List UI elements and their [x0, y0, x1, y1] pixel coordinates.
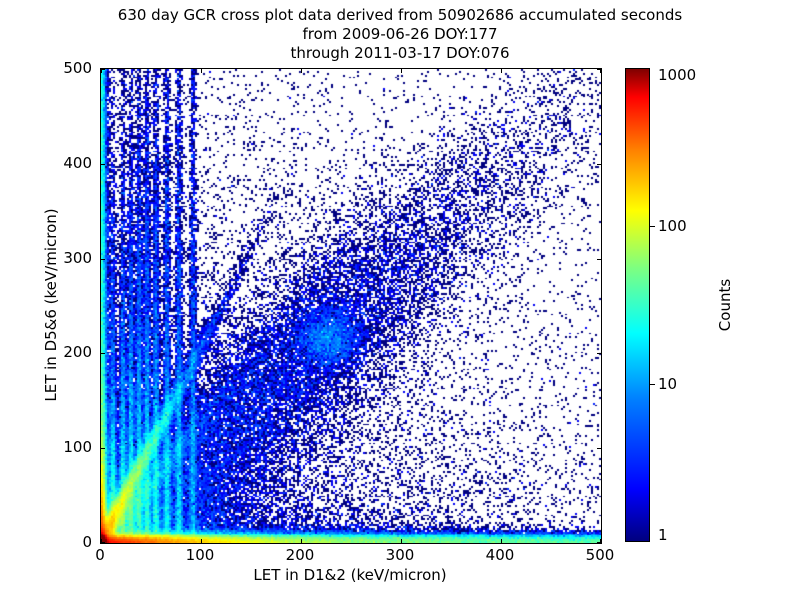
- colorbar-tick-label: 10: [658, 375, 677, 393]
- x-tick-mark: [401, 69, 402, 73]
- colorbar-tick-label: 1: [658, 526, 668, 544]
- colorbar-gradient: [625, 68, 650, 542]
- x-tick-mark: [301, 539, 302, 543]
- x-tick-mark: [401, 539, 402, 543]
- x-tick-mark: [201, 539, 202, 543]
- title-line-3: through 2011-03-17 DOY:076: [0, 44, 800, 63]
- y-tick-mark: [101, 164, 105, 165]
- x-tick-mark: [301, 69, 302, 73]
- y-axis-label: LET in D5&6 (keV/micron): [42, 68, 60, 542]
- y-tick-mark: [101, 69, 105, 70]
- colorbar-tick-mark: [650, 226, 655, 227]
- plot-title: 630 day GCR cross plot data derived from…: [0, 6, 800, 63]
- x-tick-label: 300: [386, 546, 415, 564]
- y-tick-mark: [597, 164, 601, 165]
- title-line-1: 630 day GCR cross plot data derived from…: [0, 6, 800, 25]
- y-tick-mark: [597, 259, 601, 260]
- y-tick-mark: [101, 448, 105, 449]
- plot-axes: [100, 68, 602, 544]
- y-tick-mark: [597, 353, 601, 354]
- y-tick-mark: [101, 353, 105, 354]
- y-tick-mark: [101, 542, 105, 543]
- y-tick-mark: [597, 448, 601, 449]
- colorbar-tick-mark: [650, 384, 655, 385]
- figure-canvas: 630 day GCR cross plot data derived from…: [0, 0, 800, 600]
- y-tick-mark: [597, 69, 601, 70]
- x-tick-label: 200: [286, 546, 315, 564]
- x-tick-label: 100: [186, 546, 215, 564]
- colorbar-label: Counts: [716, 68, 734, 542]
- x-tick-mark: [201, 69, 202, 73]
- y-tick-mark: [597, 542, 601, 543]
- x-tick-mark: [501, 69, 502, 73]
- colorbar: 1101001000: [625, 68, 650, 542]
- heatmap-data-canvas: [101, 69, 601, 543]
- x-tick-label: 400: [486, 546, 515, 564]
- colorbar-tick-label: 100: [658, 217, 687, 235]
- colorbar-tick-label: 1000: [658, 66, 696, 84]
- x-tick-label: 0: [95, 546, 105, 564]
- x-tick-label: 500: [586, 546, 615, 564]
- y-tick-mark: [101, 259, 105, 260]
- x-axis-label: LET in D1&2 (keV/micron): [100, 566, 600, 584]
- title-line-2: from 2009-06-26 DOY:177: [0, 25, 800, 44]
- x-tick-mark: [501, 539, 502, 543]
